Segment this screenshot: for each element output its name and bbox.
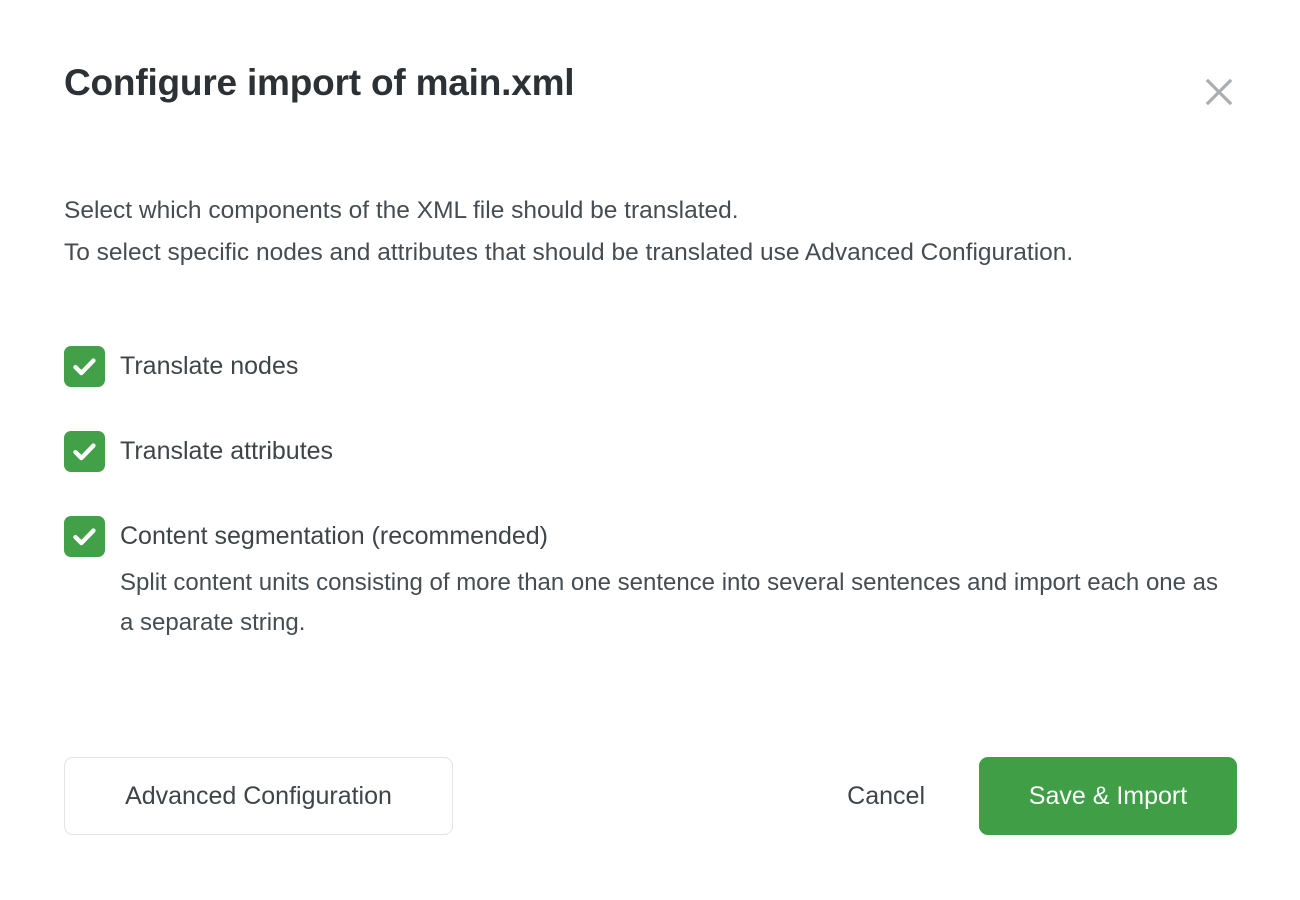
options-list: Translate nodes Translate attributes bbox=[64, 343, 1239, 643]
option-body: Translate attributes bbox=[120, 428, 333, 474]
option-label[interactable]: Translate nodes bbox=[120, 343, 298, 389]
close-icon bbox=[1204, 77, 1234, 107]
option-body: Content segmentation (recommended) Split… bbox=[120, 513, 1220, 643]
option-content-segmentation[interactable]: Content segmentation (recommended) Split… bbox=[64, 513, 1239, 643]
dialog-header: Configure import of main.xml bbox=[64, 62, 1240, 132]
option-body: Translate nodes bbox=[120, 343, 298, 389]
checkbox-translate-nodes[interactable] bbox=[64, 346, 105, 387]
cancel-button[interactable]: Cancel bbox=[821, 766, 951, 826]
intro-line-1: Select which components of the XML file … bbox=[64, 190, 1094, 232]
check-icon bbox=[71, 353, 98, 380]
check-icon bbox=[71, 523, 98, 550]
footer-actions: Cancel Save & Import bbox=[821, 757, 1237, 835]
checkbox-content-segmentation[interactable] bbox=[64, 516, 105, 557]
configure-import-dialog: Configure import of main.xml Select whic… bbox=[0, 0, 1300, 900]
page-title: Configure import of main.xml bbox=[64, 62, 1240, 105]
checkbox-translate-attributes[interactable] bbox=[64, 431, 105, 472]
check-icon bbox=[71, 438, 98, 465]
intro-text: Select which components of the XML file … bbox=[64, 190, 1094, 274]
dialog-footer: Advanced Configuration Cancel Save & Imp… bbox=[64, 757, 1237, 835]
close-button[interactable] bbox=[1197, 70, 1241, 114]
advanced-configuration-button[interactable]: Advanced Configuration bbox=[64, 757, 453, 835]
option-label[interactable]: Translate attributes bbox=[120, 428, 333, 474]
option-label[interactable]: Content segmentation (recommended) bbox=[120, 513, 1220, 559]
option-description: Split content units consisting of more t… bbox=[120, 563, 1220, 643]
option-translate-nodes[interactable]: Translate nodes bbox=[64, 343, 1239, 389]
intro-line-2: To select specific nodes and attributes … bbox=[64, 232, 1094, 274]
option-translate-attributes[interactable]: Translate attributes bbox=[64, 428, 1239, 474]
save-and-import-button[interactable]: Save & Import bbox=[979, 757, 1237, 835]
